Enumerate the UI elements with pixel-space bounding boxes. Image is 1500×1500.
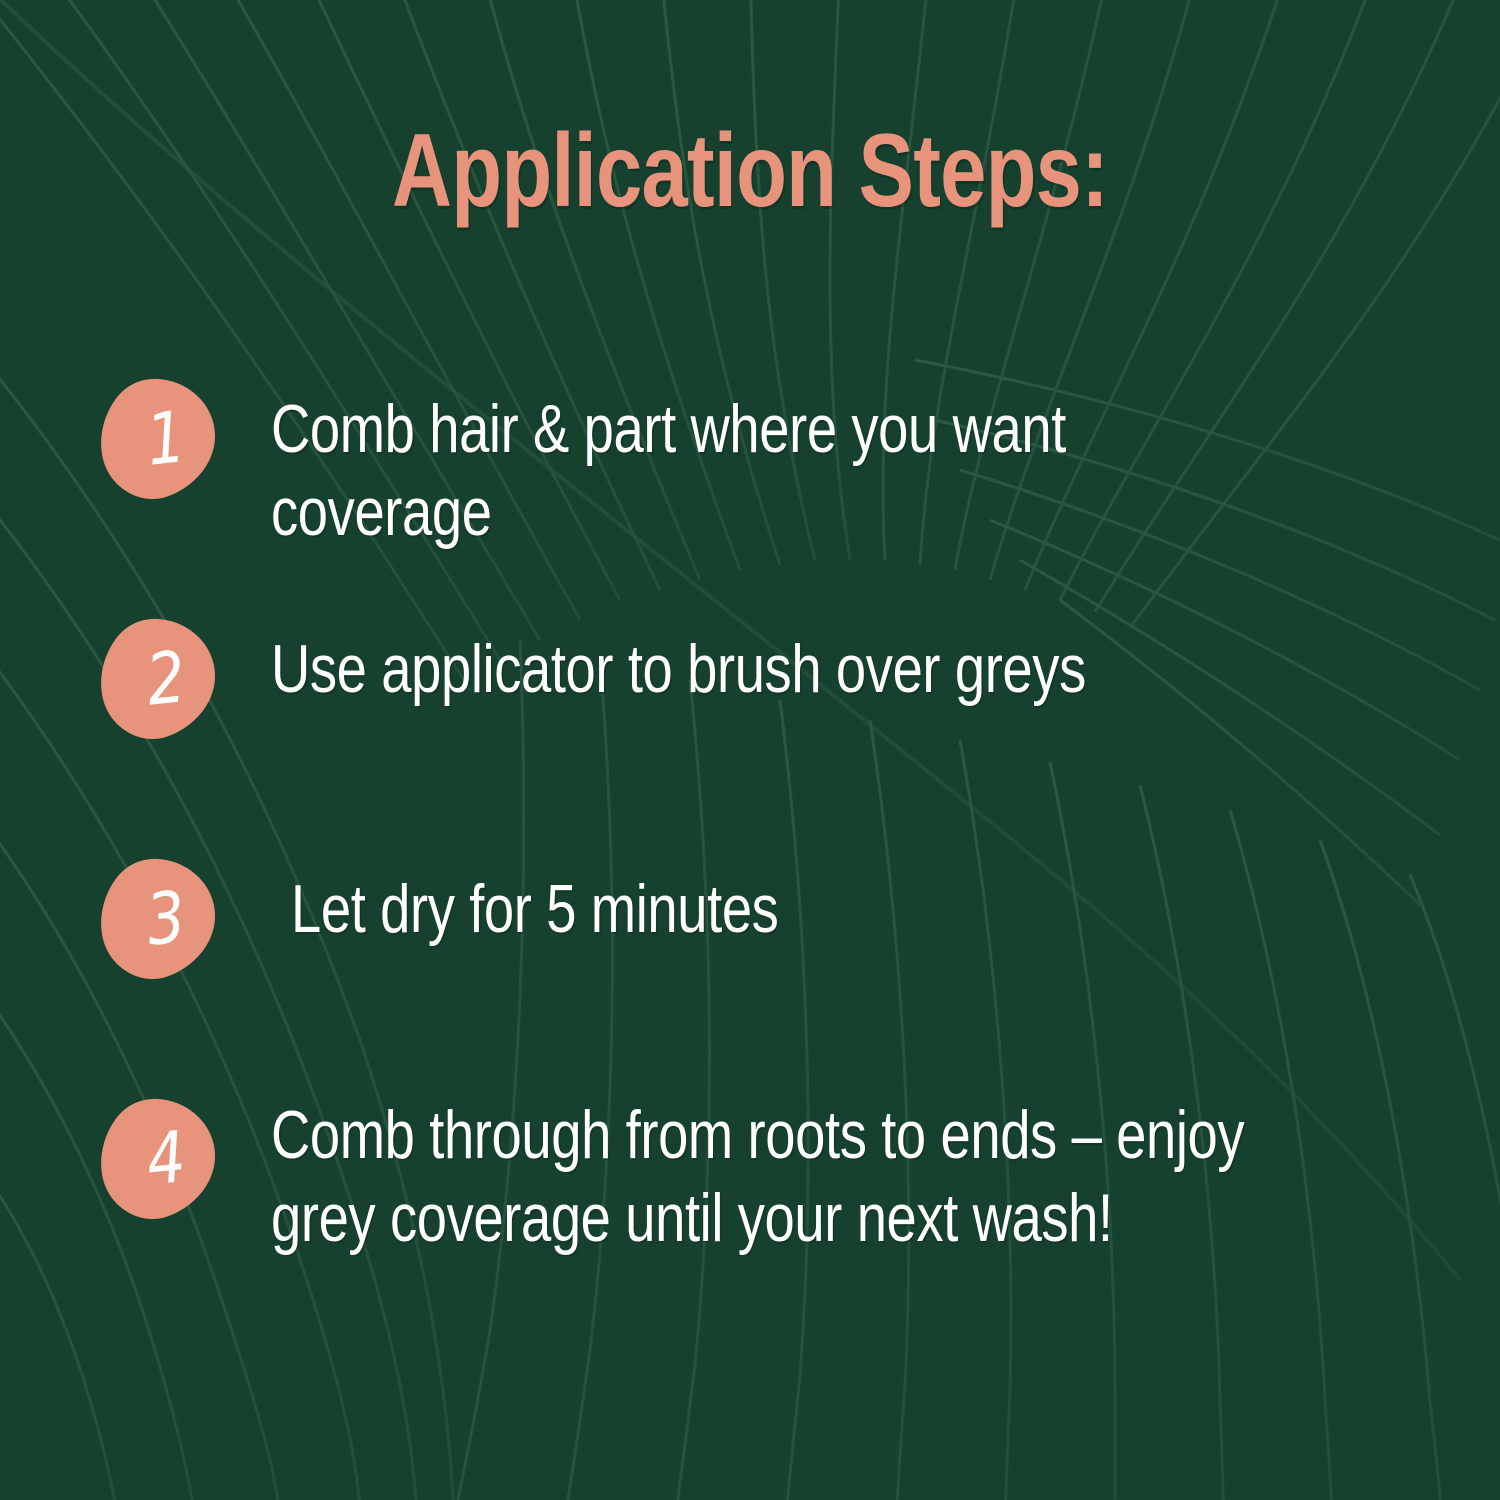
- step-badge-3: 3: [98, 858, 216, 980]
- list-item: 4 Comb through from roots to ends – enjo…: [0, 1080, 1500, 1380]
- step-badge-1: 1: [98, 378, 216, 500]
- step-text-1: Comb hair & part where you want coverage: [271, 388, 1254, 554]
- step-text-4: Comb through from roots to ends – enjoy …: [271, 1094, 1244, 1260]
- step-number-3: 3: [91, 841, 223, 997]
- page-title: Application Steps:: [150, 119, 1350, 223]
- step-text-2: Use applicator to brush over greys: [271, 628, 1086, 711]
- steps-list: 1 Comb hair & part where you want covera…: [0, 360, 1500, 1380]
- step-text-3: Let dry for 5 minutes: [291, 868, 778, 951]
- step-badge-4: 4: [98, 1098, 216, 1220]
- application-steps-panel: Application Steps: 1 Comb hair & part wh…: [0, 0, 1500, 1500]
- step-number-1: 1: [91, 361, 223, 517]
- list-item: 3 Let dry for 5 minutes: [0, 840, 1500, 1080]
- step-number-4: 4: [91, 1081, 223, 1237]
- step-badge-2: 2: [98, 618, 216, 740]
- list-item: 1 Comb hair & part where you want covera…: [0, 360, 1500, 600]
- step-number-2: 2: [91, 601, 223, 757]
- list-item: 2 Use applicator to brush over greys: [0, 600, 1500, 840]
